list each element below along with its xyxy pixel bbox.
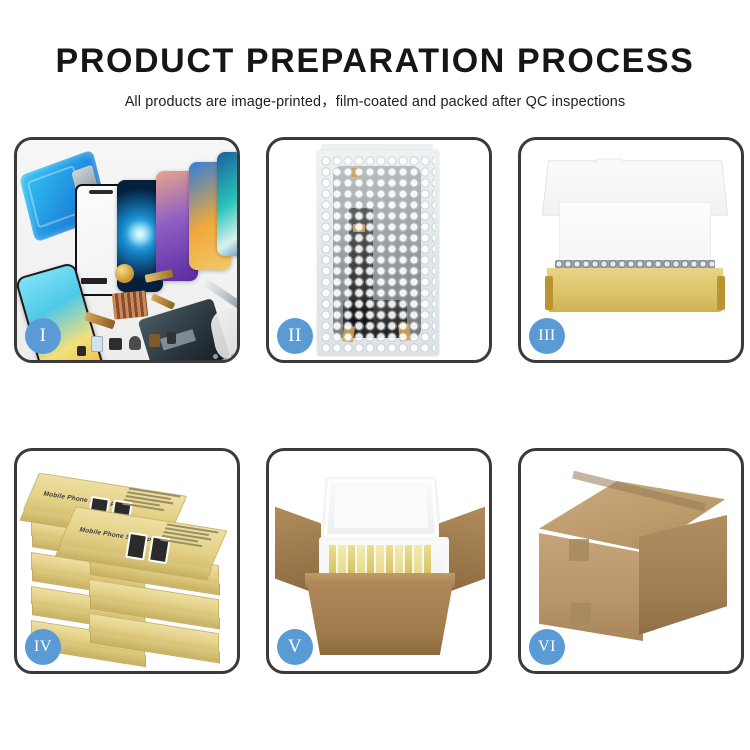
step-card-1[interactable]: I (14, 137, 240, 363)
page-header: PRODUCT PREPARATION PROCESS All products… (0, 0, 750, 111)
step-badge-5: V (277, 629, 313, 665)
page-title: PRODUCT PREPARATION PROCESS (0, 0, 750, 80)
step-badge-1: I (25, 318, 61, 354)
carton-body-image (307, 583, 453, 655)
step-badge-4: IV (25, 629, 61, 665)
chip-array-part (112, 290, 149, 319)
carton-tape-lower (571, 603, 591, 625)
screws-group (213, 354, 237, 360)
step-card-6[interactable]: VI (518, 448, 744, 674)
small-part-3 (129, 336, 141, 350)
foam-lid-image (320, 477, 441, 540)
small-part-6 (77, 346, 86, 356)
earpiece-speaker-part (81, 278, 107, 284)
step-badge-3: III (529, 318, 565, 354)
box-stack-image: Mobile Phone Spare Parts Mobile Phone Sp… (27, 469, 233, 665)
step-card-4[interactable]: Mobile Phone Spare Parts Mobile Phone Sp… (14, 448, 240, 674)
small-part-5 (167, 332, 176, 344)
step-card-3[interactable]: III (518, 137, 744, 363)
yellow-box-body-image (547, 268, 723, 312)
page-subtitle: All products are image-printed，film-coat… (0, 80, 750, 111)
glass-notch (89, 190, 113, 194)
carton-tape-upper (569, 539, 589, 561)
carton-front-face (539, 533, 643, 641)
process-steps-grid: I II (14, 137, 744, 674)
step-badge-6: VI (529, 629, 565, 665)
product-preparation-process-page: PRODUCT PREPARATION PROCESS All products… (0, 0, 750, 750)
step-badge-2: II (277, 318, 313, 354)
bubble-wrap-bag-image (317, 150, 439, 356)
bubble-texture (321, 156, 435, 352)
small-part-2 (109, 338, 122, 350)
phone-screen-image-d (217, 152, 237, 256)
step-card-5[interactable]: V (266, 448, 492, 674)
step-card-2[interactable]: II (266, 137, 492, 363)
small-part-4 (149, 334, 160, 347)
small-part-1 (91, 336, 103, 352)
vibration-motor-part (115, 264, 134, 283)
